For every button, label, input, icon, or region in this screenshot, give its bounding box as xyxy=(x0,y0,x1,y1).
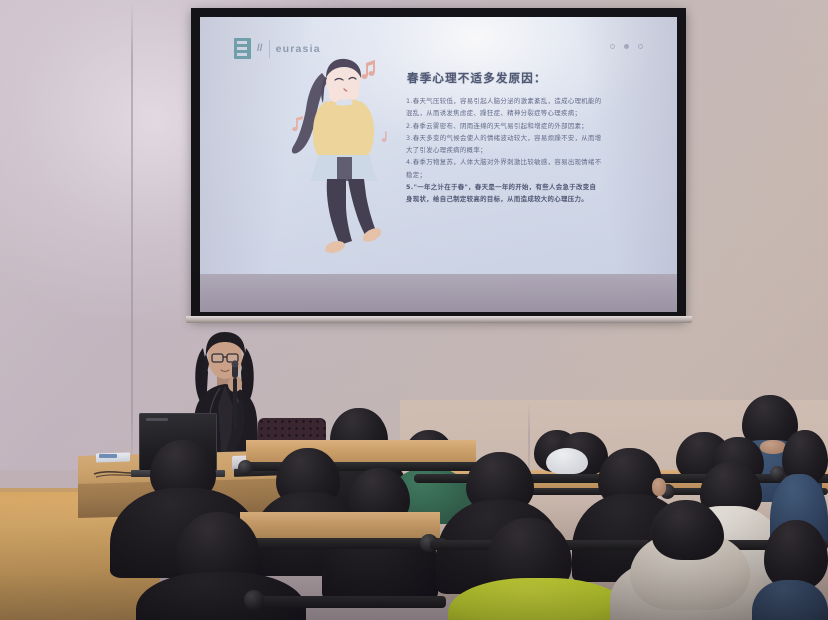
projection-screen-bottom-bar xyxy=(186,316,692,323)
audience-ear xyxy=(652,478,666,496)
slide-body-line: 1.春天气压较低，容易引起人脑分泌的激素紊乱，造成心理机能的 xyxy=(406,95,648,107)
eurasia-e-mark-icon xyxy=(234,38,251,59)
slide-title: 春季心理不适多发原因： xyxy=(407,70,547,86)
presentation-slide: // eurasia xyxy=(200,17,677,274)
logo-slash: // xyxy=(257,43,263,54)
logo-divider xyxy=(269,40,270,58)
rail-knob xyxy=(238,460,253,475)
slide-body-text: 1.春天气压较低，容易引起人脑分泌的激素紊乱，造成心理机能的 混乱，从而诱发焦虑… xyxy=(406,95,648,206)
audience-head-in-hood xyxy=(652,504,724,560)
projection-screen-surface: // eurasia xyxy=(200,17,677,312)
blue-paper xyxy=(99,454,117,458)
rail-knob xyxy=(244,590,264,610)
dot-filled-icon xyxy=(624,44,629,49)
slide-body-line: 稳定； xyxy=(406,169,648,181)
slide-body-line: 4.春季万物复苏，人体大脑对外界刺激比较敏感，容易出现情绪不 xyxy=(406,156,648,168)
slide-body-line: 2.春季云雾密布、阴雨连绵的天气易引起和增症的外部因素； xyxy=(406,120,648,132)
projection-screen-frame: // eurasia xyxy=(191,8,686,320)
dot-outline-icon-2 xyxy=(638,44,643,49)
slide-body-line: 身现状，给自己制定较高的目标，从而造成较大的心理压力。 xyxy=(406,193,648,205)
bench-rail-row-2 xyxy=(236,538,446,549)
slide-body-line: 3.春天多变的气候会使人的情绪波动较大，容易烦躁不安，从而增 xyxy=(406,132,648,144)
slide-lower-band xyxy=(200,274,677,312)
slide-body-line: 大了引发心理疾病的概率； xyxy=(406,144,648,156)
bench-rail-row-1 xyxy=(250,596,446,608)
music-note-icon xyxy=(362,60,376,79)
slide-body-line: 5."一年之计在于春"，春天是一年的开始，有些人会急于改变自 xyxy=(406,181,648,193)
laptop-logo xyxy=(146,418,168,421)
lecture-hall-scene: // eurasia xyxy=(0,0,828,620)
slide-illustration-girl xyxy=(282,45,402,260)
dot-outline-icon xyxy=(610,44,615,49)
audience-cap xyxy=(546,448,588,474)
wall-panel-seam xyxy=(131,0,133,470)
slide-window-dots xyxy=(610,44,643,49)
slide-body-line: 混乱，从而诱发焦虑症、躁狂症、精神分裂症等心理疾病； xyxy=(406,107,648,119)
